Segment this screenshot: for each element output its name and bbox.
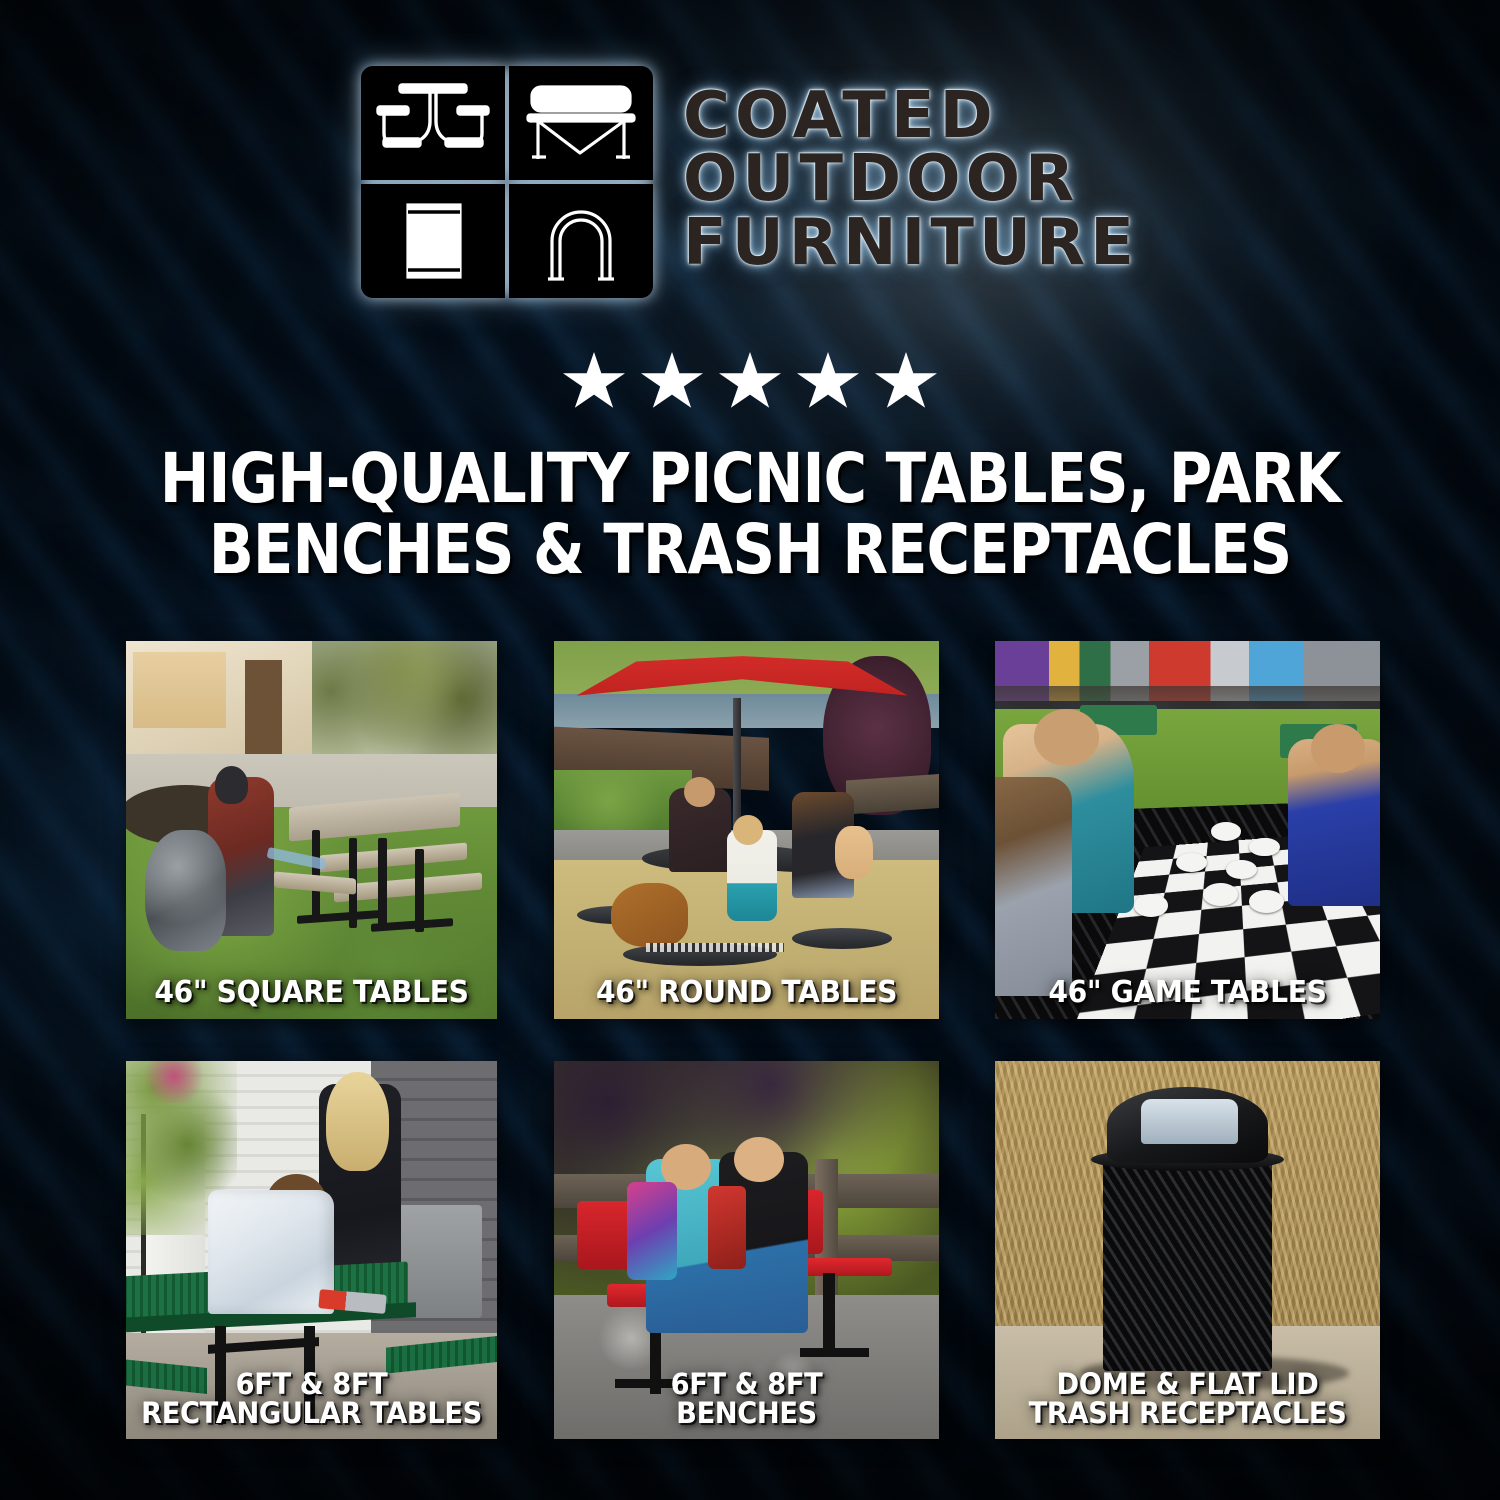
product-card-rectangular-tables[interactable]: 6FT & 8FT RECTANGULAR TABLES [126,1061,497,1439]
promo-banner: COATED OUTDOOR FURNITURE HIGH-QUALITY PI… [0,0,1500,1500]
star-rating [0,352,1500,412]
star-icon [641,352,703,412]
product-card-benches[interactable]: 6FT & 8FT BENCHES [554,1061,939,1439]
brand-line-3: FURNITURE [683,213,1139,274]
star-icon [797,352,859,412]
product-card-round-tables[interactable]: 46" ROUND TABLES [554,641,939,1019]
trash-receptacle-icon [361,184,505,298]
product-photo-round-tables: 46" ROUND TABLES [554,641,939,1019]
product-grid: 46" SQUARE TABLES [126,641,1380,1439]
brand-wordmark: COATED OUTDOOR FURNITURE [683,86,1139,278]
bench-icon [509,66,653,180]
product-photo-game-tables: 46" GAME TABLES [995,641,1380,1019]
star-icon [875,352,937,412]
product-card-game-tables[interactable]: 46" GAME TABLES [995,641,1380,1019]
headline-line-2: BENCHES & TRASH RECEPTACLES [157,515,1344,586]
brand-line-2: OUTDOOR [683,149,1139,210]
product-photo-rectangular-tables: 6FT & 8FT RECTANGULAR TABLES [126,1061,497,1439]
headline-line-1: HIGH-QUALITY PICNIC TABLES, PARK [157,444,1344,515]
brand-logo: COATED OUTDOOR FURNITURE [0,66,1500,298]
product-card-trash-receptacles[interactable]: DOME & FLAT LID TRASH RECEPTACLES [995,1061,1380,1439]
brand-line-1: COATED [683,86,1139,147]
product-photo-benches: 6FT & 8FT BENCHES [554,1061,939,1439]
picnic-table-icon [361,66,505,180]
product-photo-trash-receptacles: DOME & FLAT LID TRASH RECEPTACLES [995,1061,1380,1439]
bike-rack-icon [509,184,653,298]
product-card-square-tables[interactable]: 46" SQUARE TABLES [126,641,497,1019]
product-photo-square-tables: 46" SQUARE TABLES [126,641,497,1019]
headline: HIGH-QUALITY PICNIC TABLES, PARK BENCHES… [60,444,1440,586]
star-icon [719,352,781,412]
logo-icon-grid [361,66,653,298]
star-icon [563,352,625,412]
